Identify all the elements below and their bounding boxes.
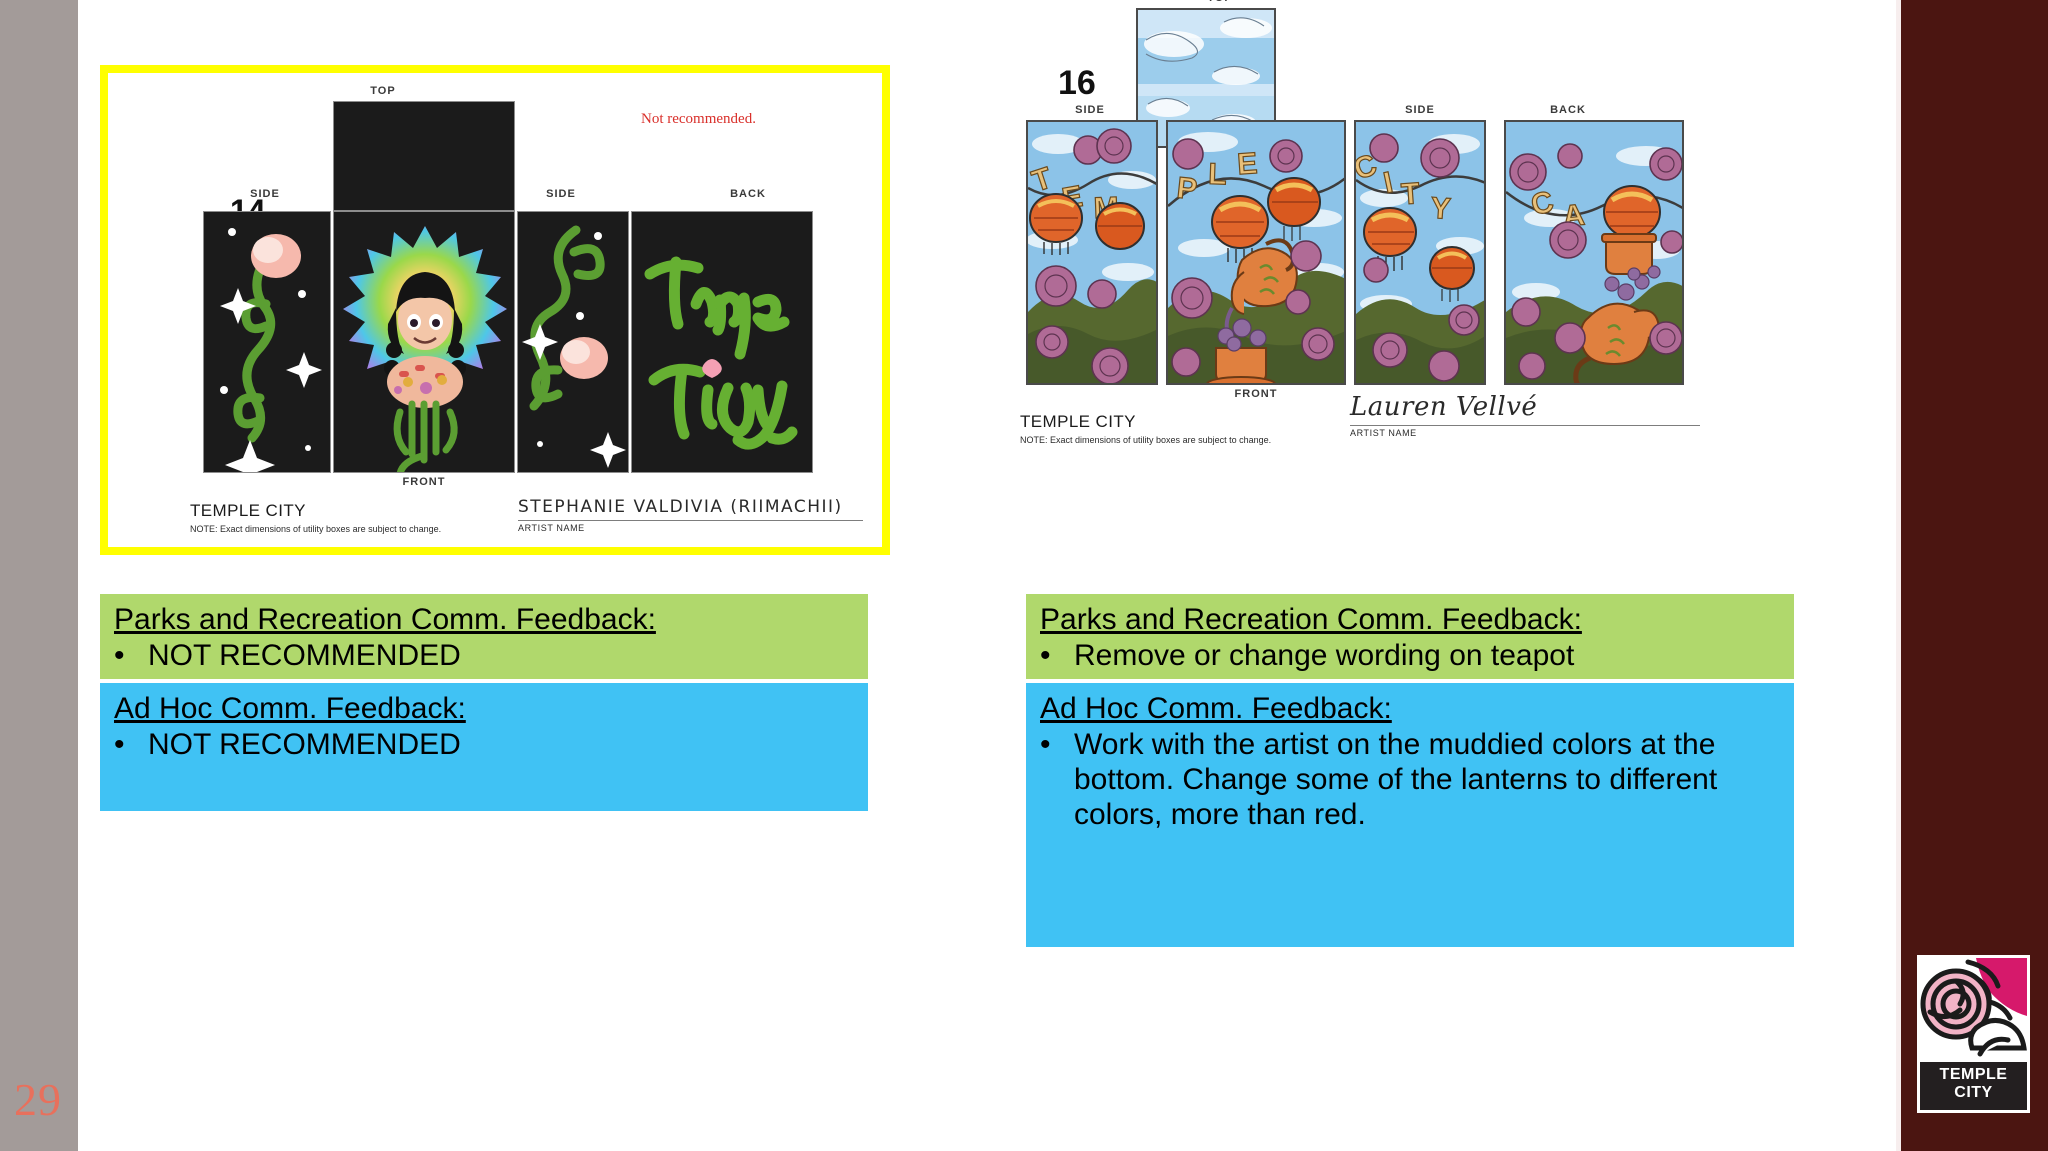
entry-16-parks-feedback-box: Parks and Recreation Comm. Feedback: • R… (1026, 594, 1794, 679)
svg-text:P: P (1175, 172, 1198, 207)
logo-wordmark: TEMPLE CITY (1920, 1062, 2027, 1110)
entry-14-panel-front (333, 211, 515, 473)
entry-16-panel-side-right: C I T Y (1354, 120, 1486, 385)
entry-16-label-side-left: SIDE (1020, 104, 1160, 116)
svg-text:T: T (1400, 177, 1421, 211)
entry-14-footer-city: TEMPLE CITY NOTE: Exact dimensions of ut… (190, 501, 441, 534)
entry-16-adhoc-feedback-list: • Work with the artist on the muddied co… (1040, 727, 1794, 833)
logo-line-1: TEMPLE (1920, 1067, 2027, 1083)
entry-14-footer-note: NOTE: Exact dimensions of utility boxes … (190, 524, 441, 534)
bullet-text: Work with the artist on the muddied colo… (1074, 727, 1758, 833)
entry-14-panel-back (631, 211, 813, 473)
entry-14-panel-top (333, 101, 515, 211)
entry-14-city-name: TEMPLE CITY (190, 501, 441, 521)
bullet-text: NOT RECOMMENDED (148, 638, 868, 673)
list-item: • NOT RECOMMENDED (114, 727, 868, 762)
entry-16-parks-feedback-list: • Remove or change wording on teapot (1040, 638, 1794, 673)
entry-16-artist-name: Lauren Vellvé (1350, 392, 1700, 422)
entry-16-panel-front: P L E (1166, 120, 1346, 385)
temple-city-logo: TEMPLE CITY (1917, 955, 2030, 1113)
entry-14-parks-feedback-title: Parks and Recreation Comm. Feedback: (114, 604, 656, 636)
entry-16-footer-note: NOTE: Exact dimensions of utility boxes … (1020, 435, 1271, 445)
list-item: • Work with the artist on the muddied co… (1040, 727, 1794, 833)
logo-line-2: CITY (1920, 1085, 2027, 1101)
svg-text:E: E (1236, 147, 1258, 181)
left-accent-bar (0, 0, 78, 1151)
entry-14-label-side-left: SIDE (210, 188, 320, 200)
entry-14-label-top: TOP (298, 85, 468, 97)
svg-text:L: L (1208, 158, 1227, 192)
entry-16-label-front: FRONT (1171, 388, 1341, 400)
list-item: • NOT RECOMMENDED (114, 638, 868, 673)
entry-16-footer-city: TEMPLE CITY NOTE: Exact dimensions of ut… (1020, 412, 1271, 445)
entry-16-artwork-sheet: 16 TOP SIDE (1020, 0, 1820, 572)
entry-16-number: 16 (1058, 64, 1096, 103)
entry-14-adhoc-feedback-title: Ad Hoc Comm. Feedback: (114, 693, 466, 725)
bullet-dot: • (114, 638, 148, 673)
entry-16-panel-back: C A (1504, 120, 1684, 385)
entry-14-artist-name: STEPHANIE VALDIVIA (RIIMACHII) (518, 497, 863, 517)
entry-14-panel-side-left (203, 211, 331, 473)
entry-14-adhoc-feedback-box: Ad Hoc Comm. Feedback: • NOT RECOMMENDED (100, 683, 868, 811)
bullet-dot: • (114, 727, 148, 762)
entry-16-label-back: BACK (1498, 104, 1638, 116)
entry-14-panel-side-right (517, 211, 629, 473)
slide-number: 29 (14, 1077, 62, 1123)
entry-14-parks-feedback-list: • NOT RECOMMENDED (114, 638, 868, 673)
entry-14-parks-feedback-box: Parks and Recreation Comm. Feedback: • N… (100, 594, 868, 679)
bullet-text: Remove or change wording on teapot (1074, 638, 1794, 673)
bullet-dot: • (1040, 638, 1074, 673)
entry-14-label-front: FRONT (339, 476, 509, 488)
entry-14-label-side-right: SIDE (506, 188, 616, 200)
entry-14-artist-block: STEPHANIE VALDIVIA (RIIMACHII) ARTIST NA… (518, 497, 863, 533)
entry-16-artist-label: ARTIST NAME (1350, 428, 1700, 438)
entry-16-city-name: TEMPLE CITY (1020, 412, 1271, 432)
entry-16-artist-signature-line (1350, 424, 1700, 426)
bullet-text: NOT RECOMMENDED (148, 727, 868, 762)
entry-16-artist-block: Lauren Vellvé ARTIST NAME (1350, 392, 1700, 438)
svg-text:Y: Y (1430, 192, 1452, 226)
entry-14-artist-label: ARTIST NAME (518, 523, 863, 533)
rose-logo-icon (1920, 958, 2027, 1062)
list-item: • Remove or change wording on teapot (1040, 638, 1794, 673)
entry-14-adhoc-feedback-list: • NOT RECOMMENDED (114, 727, 868, 762)
entry-16-label-top: TOP (1135, 0, 1305, 4)
entry-14-status-note: Not recommended. (641, 111, 756, 128)
entry-16-label-side-right: SIDE (1350, 104, 1490, 116)
entry-14-label-back: BACK (693, 188, 803, 200)
entry-16-adhoc-feedback-box: Ad Hoc Comm. Feedback: • Work with the a… (1026, 683, 1794, 947)
entry-16-panel-side-left: T E M (1026, 120, 1158, 385)
bullet-dot: • (1040, 727, 1074, 833)
entry-14-artwork-sheet: 14 Not recommended. TOP SIDE (108, 73, 882, 547)
entry-16-adhoc-feedback-title: Ad Hoc Comm. Feedback: (1040, 693, 1392, 725)
entry-14-artist-signature-line (518, 519, 863, 521)
entry-16-parks-feedback-title: Parks and Recreation Comm. Feedback: (1040, 604, 1582, 636)
